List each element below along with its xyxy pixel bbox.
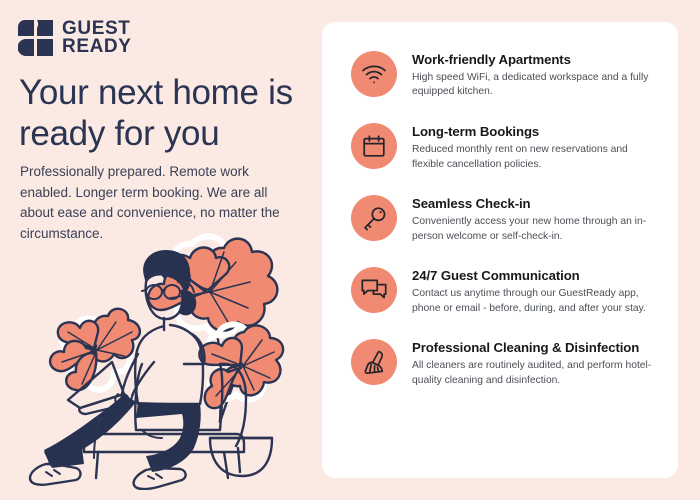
hero-illustration: .ln { fill:none; stroke:#2B3452; stroke-…	[24, 222, 316, 490]
feature-item-work-friendly-apartments[interactable]: Work-friendly Apartments High speed WiFi…	[351, 50, 662, 100]
feature-text: Seamless Check-in Conveniently access yo…	[412, 194, 662, 244]
hero-column: GUEST READY Your next home is ready for …	[0, 0, 322, 500]
feature-item-seamless-check-in[interactable]: Seamless Check-in Conveniently access yo…	[351, 194, 662, 244]
feature-description: All cleaners are routinely audited, and …	[412, 359, 662, 388]
broom-icon	[351, 339, 397, 385]
brand-word-ready: READY	[62, 38, 132, 56]
feature-text: Long-term Bookings Reduced monthly rent …	[412, 122, 662, 172]
key-icon	[351, 195, 397, 241]
feature-text: 24/7 Guest Communication Contact us anyt…	[412, 266, 662, 316]
feature-title: Seamless Check-in	[412, 196, 662, 212]
feature-text: Professional Cleaning & Disinfection All…	[412, 338, 662, 388]
feature-item-cleaning-disinfection[interactable]: Professional Cleaning & Disinfection All…	[351, 338, 662, 388]
feature-title: Long-term Bookings	[412, 124, 662, 140]
marketing-page: GUEST READY Your next home is ready for …	[0, 0, 700, 500]
feature-title: Work-friendly Apartments	[412, 52, 662, 68]
brand-wordmark: GUEST READY	[62, 20, 132, 56]
feature-title: 24/7 Guest Communication	[412, 268, 662, 284]
feature-item-guest-communication[interactable]: 24/7 Guest Communication Contact us anyt…	[351, 266, 662, 316]
feature-title: Professional Cleaning & Disinfection	[412, 340, 662, 356]
feature-description: Reduced monthly rent on new reservations…	[412, 143, 662, 172]
feature-item-long-term-bookings[interactable]: Long-term Bookings Reduced monthly rent …	[351, 122, 662, 172]
feature-description: High speed WiFi, a dedicated workspace a…	[412, 71, 662, 100]
feature-text: Work-friendly Apartments High speed WiFi…	[412, 50, 662, 100]
wifi-icon	[351, 51, 397, 97]
feature-description: Conveniently access your new home throug…	[412, 215, 662, 244]
brand-logo[interactable]: GUEST READY	[18, 20, 132, 56]
calendar-icon	[351, 123, 397, 169]
feature-list: Work-friendly Apartments High speed WiFi…	[322, 50, 678, 388]
feature-description: Contact us anytime through our GuestRead…	[412, 287, 662, 316]
chat-bubbles-icon	[351, 267, 397, 313]
guestready-quadrant-mark-icon	[18, 20, 53, 56]
features-panel: Work-friendly Apartments High speed WiFi…	[322, 22, 678, 478]
page-title: Your next home is ready for you	[19, 73, 311, 154]
